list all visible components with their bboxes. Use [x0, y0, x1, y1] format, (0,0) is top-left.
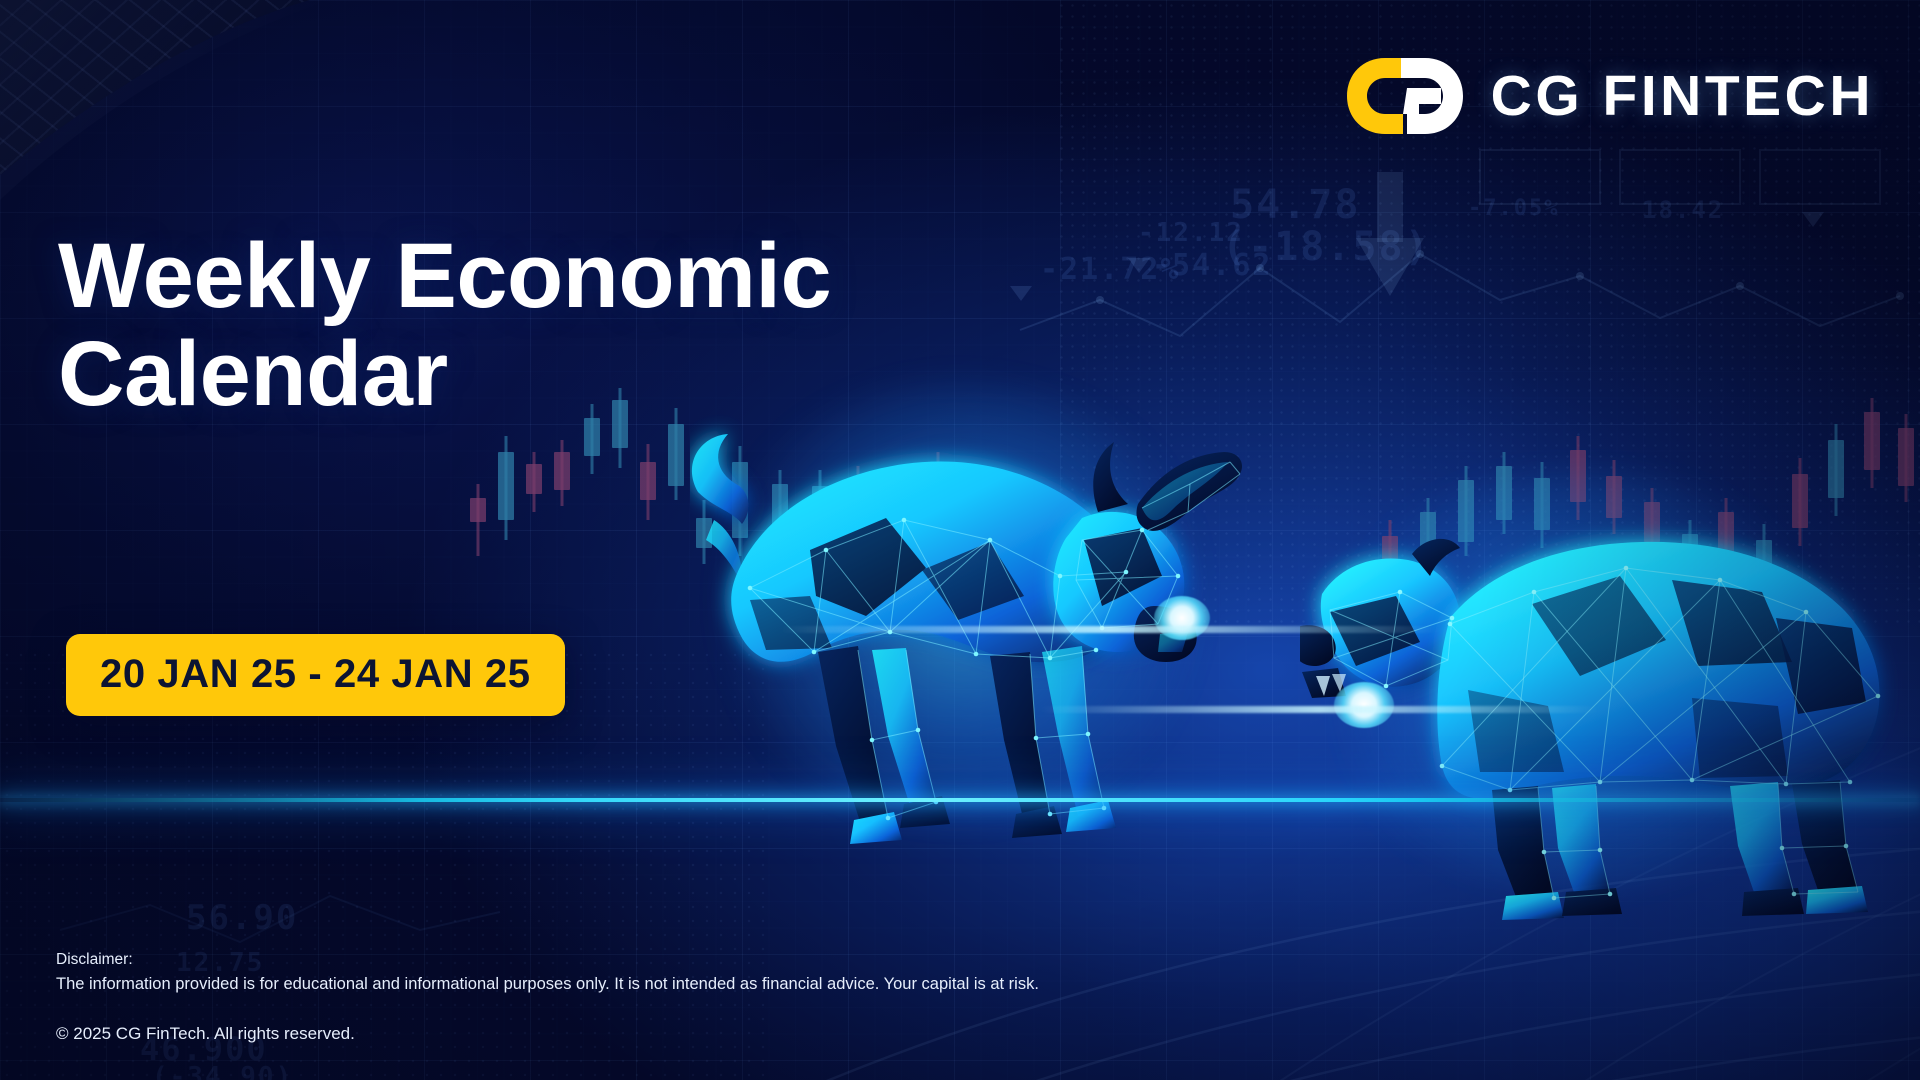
bear-eye-glow [1334, 682, 1394, 728]
horizon-light-rail [0, 798, 1920, 802]
candlestick-body [668, 424, 684, 486]
candlestick [554, 440, 570, 506]
copyright-notice: © 2025 CG FinTech. All rights reserved. [56, 1024, 1039, 1044]
candlestick [1864, 398, 1880, 488]
candlestick-body [1864, 412, 1880, 470]
page-title-line-2: Calendar [58, 326, 1058, 424]
brand-logo[interactable]: CG FINTECH [1341, 52, 1874, 140]
candlestick-body [498, 452, 514, 520]
candlestick-body [1898, 428, 1914, 486]
brand-name: CG FINTECH [1491, 68, 1874, 125]
disclaimer-label: Disclaimer: [56, 948, 1039, 972]
candlestick [498, 436, 514, 540]
candlestick [1898, 414, 1914, 502]
background-down-arrow [1356, 238, 1424, 296]
background-down-arrow-small-3 [1802, 212, 1824, 227]
candlestick [526, 452, 542, 512]
candlestick-body [470, 498, 486, 522]
candlestick-body [526, 464, 542, 494]
light-beam-upper [780, 626, 1440, 633]
cg-logo-mark [1341, 52, 1469, 140]
background-down-arrow-small-2 [1128, 258, 1150, 273]
page-title: Weekly Economic Calendar [58, 228, 1058, 423]
bull-eye-glow [1154, 596, 1210, 640]
candlestick-body [1570, 450, 1586, 502]
candlestick-body [554, 452, 570, 490]
light-beam-lower [1040, 706, 1600, 713]
candlestick-body [640, 462, 656, 500]
page-title-line-1: Weekly Economic [58, 228, 1058, 326]
footer: Disclaimer: The information provided is … [56, 948, 1039, 1044]
low-poly-bull [690, 400, 1290, 900]
date-range-badge[interactable]: 20 JAN 25 - 24 JAN 25 [66, 634, 565, 716]
background-down-arrow-stem [1377, 172, 1403, 242]
candlestick [470, 484, 486, 556]
candlestick-body [584, 418, 600, 456]
disclaimer-body: The information provided is for educatio… [56, 972, 1039, 998]
banner-canvas: 54.78(-18.58)-12.12-54.62-21.72%56.9012.… [0, 0, 1920, 1080]
candlestick [640, 444, 656, 520]
candlestick-body [1828, 440, 1844, 498]
